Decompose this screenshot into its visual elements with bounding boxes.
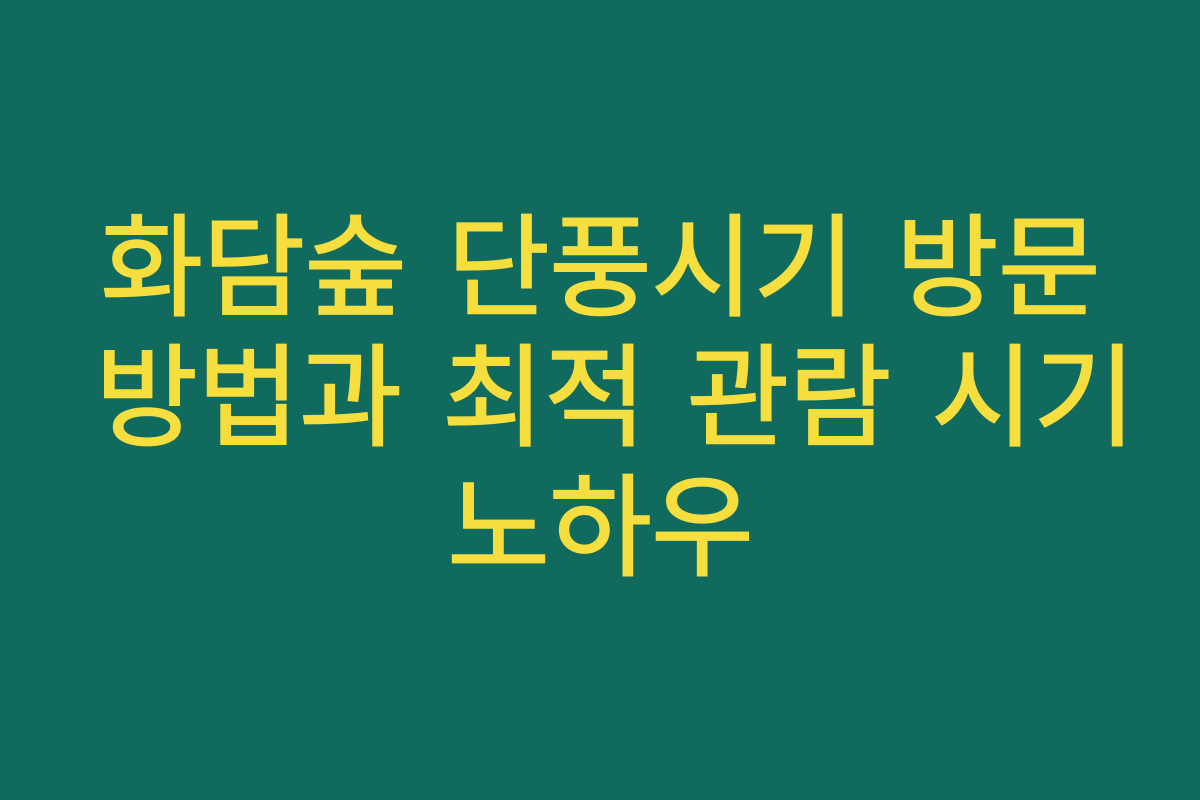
headline-line-3: 노하우	[95, 464, 1105, 594]
headline-block: 화담숲 단풍시기 방문 방법과 최적 관람 시기 노하우	[95, 204, 1105, 594]
headline-line-1: 화담숲 단풍시기 방문	[95, 204, 1105, 334]
headline-line-2: 방법과 최적 관람 시기	[95, 334, 1105, 464]
thumbnail-canvas: 화담숲 단풍시기 방문 방법과 최적 관람 시기 노하우	[0, 0, 1200, 800]
